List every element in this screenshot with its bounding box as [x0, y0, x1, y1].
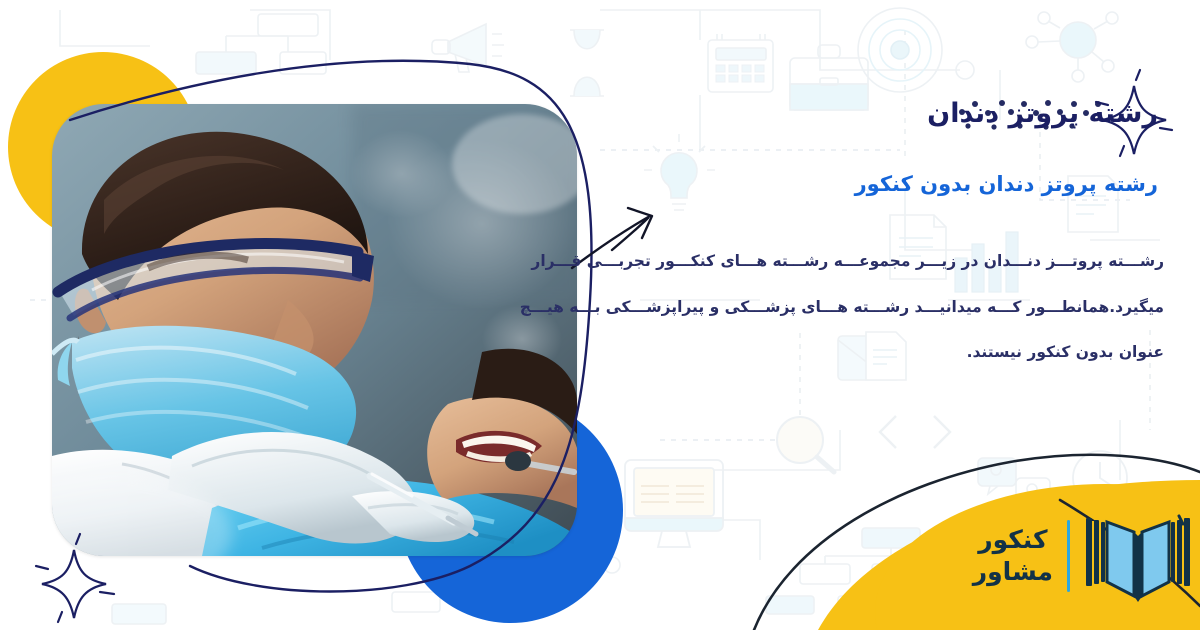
page-subtitle: رشته پروتز دندان بدون کنکور	[604, 170, 1164, 198]
body-line-3: عنوان بدون کنکور نیستند.	[604, 330, 1164, 376]
body-line-2: میگیرد.همانطـــور کـــه میدانیـــد رشـــ…	[604, 285, 1164, 331]
body-line-1: رشـــته پروتـــز دنـــدان در زیـــر مجمو…	[604, 239, 1164, 285]
page-title: رشته پروتز دندان	[604, 96, 1164, 132]
logo-line-1: کنکور	[973, 524, 1053, 556]
logo-line-2: مشاور	[973, 556, 1053, 588]
text-content-column: رشته پروتز دندان رشته پروتز دندان بدون ک…	[604, 96, 1164, 376]
logo-divider	[1067, 520, 1070, 592]
body-paragraph: رشـــته پروتـــز دنـــدان در زیـــر مجمو…	[604, 239, 1164, 376]
banner-canvas: رشته پروتز دندان رشته پروتز دندان بدون ک…	[0, 0, 1200, 630]
logo-text: کنکور مشاور	[973, 524, 1053, 588]
brand-logo[interactable]: کنکور مشاور	[973, 510, 1192, 602]
open-book-icon	[1084, 510, 1192, 602]
dentistry-photo	[52, 104, 577, 556]
